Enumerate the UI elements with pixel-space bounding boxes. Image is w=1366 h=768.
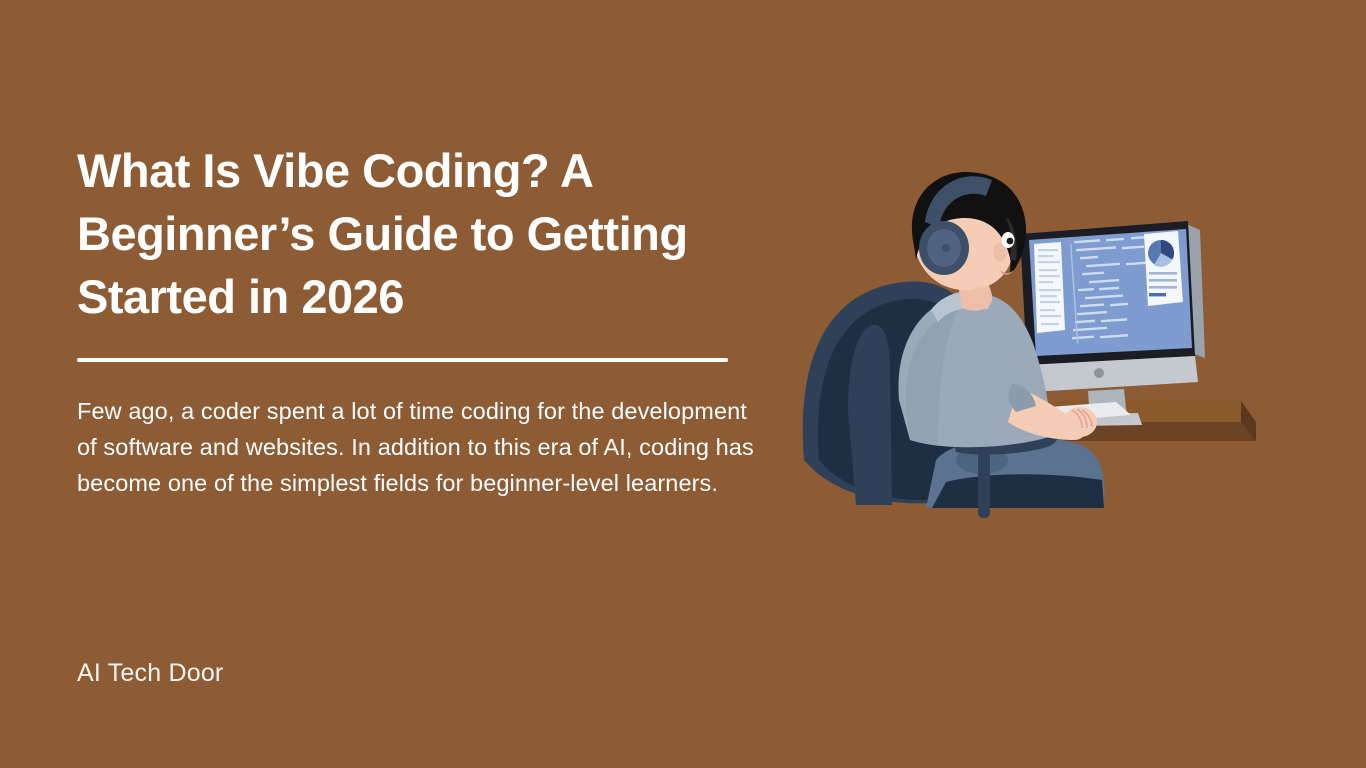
desktop-monitor: [1020, 221, 1205, 426]
document-panel: [1034, 242, 1065, 333]
brand-name: AI Tech Door: [77, 659, 223, 688]
text-column: What Is Vibe Coding? A Beginner’s Guide …: [77, 140, 777, 502]
hand: [1063, 407, 1097, 437]
page-title: What Is Vibe Coding? A Beginner’s Guide …: [77, 140, 742, 329]
person-coding-at-desk-illustration: [786, 160, 1266, 540]
eye: [1002, 232, 1015, 248]
blog-banner: What Is Vibe Coding? A Beginner’s Guide …: [0, 0, 1366, 768]
chart-card: [1144, 231, 1183, 306]
subhead-paragraph: Few ago, a coder spent a lot of time cod…: [77, 394, 769, 502]
divider: [77, 358, 728, 362]
